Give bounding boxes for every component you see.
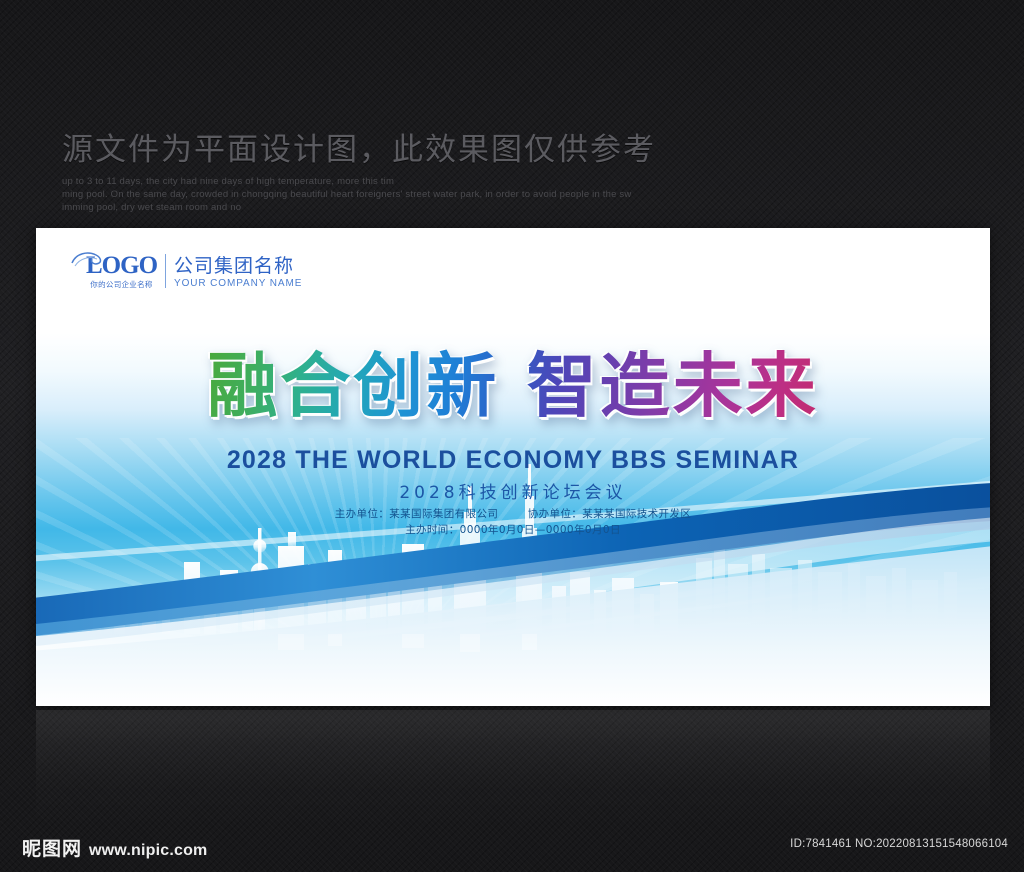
subtitle-english: 2028 THE WORLD ECONOMY BBS SEMINAR (36, 446, 990, 475)
watermark-note-en-line: up to 3 to 11 days, the city had nine da… (62, 175, 762, 188)
site-url: www.nipic.com (89, 842, 207, 860)
poster-headline: 融合创新 智造未来 (36, 346, 990, 426)
logo-swirl-icon (70, 249, 106, 271)
logo-company-names: 公司集团名称 YOUR COMPANY NAME (174, 256, 302, 290)
co-organizer-text: 协办单位：某某某国际技术开发区 (528, 508, 692, 520)
page-background: 源文件为平面设计图，此效果图仅供参考 up to 3 to 11 days, t… (0, 0, 1024, 872)
organizer-text: 主办单位：某某国际集团有限公司 (335, 508, 499, 520)
company-name-en: YOUR COMPANY NAME (174, 278, 302, 289)
company-logo: LOGO 你的公司企业名称 公司集团名称 YOUR COMPANY NAME (86, 254, 302, 290)
logo-sub-chinese: 你的公司企业名称 (86, 279, 157, 290)
poster-reflection (36, 710, 990, 830)
event-time-line: 主办时间：0000年0月0日—0000年0月0日 (36, 522, 990, 537)
subtitle-chinese: 2028科技创新论坛会议 (36, 478, 990, 503)
logo-divider (165, 254, 166, 288)
company-name-cn: 公司集团名称 (174, 256, 302, 277)
image-id-number: ID:7841461 NO:20220813151548066104 (790, 838, 1008, 850)
organizer-line: 主办单位：某某国际集团有限公司 协办单位：某某某国际技术开发区 (36, 506, 990, 521)
watermark-note: 源文件为平面设计图，此效果图仅供参考 up to 3 to 11 days, t… (62, 124, 762, 214)
watermark-note-en-line: imming pool, dry wet steam room and no (62, 201, 762, 214)
site-name-cn: 昵图网 (22, 834, 82, 861)
watermark-note-en-line: ming pool. On the same day, crowded in c… (62, 188, 762, 201)
logo-mark-group: LOGO 你的公司企业名称 (86, 254, 165, 290)
footer-bar: 昵图网 www.nipic.com ID:7841461 NO:20220813… (0, 824, 1024, 872)
watermark-note-cn: 源文件为平面设计图，此效果图仅供参考 (62, 124, 762, 169)
site-branding: 昵图网 www.nipic.com (22, 834, 207, 861)
watermark-note-en: up to 3 to 11 days, the city had nine da… (62, 175, 762, 214)
headline-text: 融合创新 智造未来 (207, 345, 818, 427)
poster-artboard: LOGO 你的公司企业名称 公司集团名称 YOUR COMPANY NAME 融… (36, 228, 990, 706)
